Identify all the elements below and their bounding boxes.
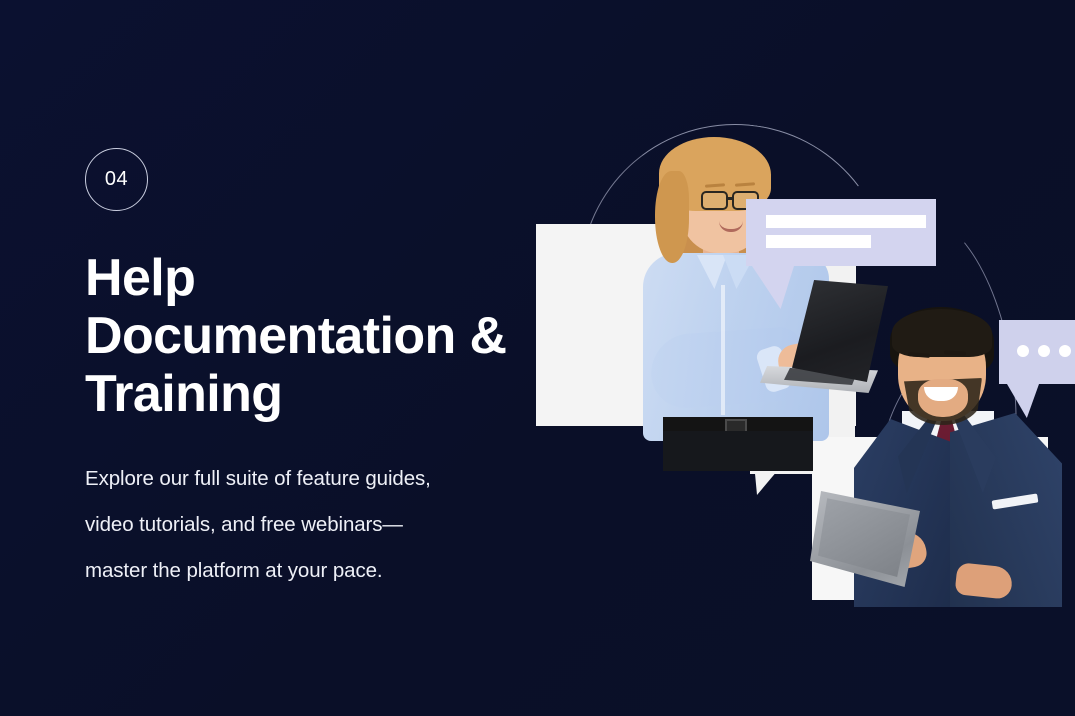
- step-number-label: 04: [105, 168, 128, 191]
- slide-canvas: 04 Help Documentation & Training Explore…: [0, 0, 1075, 716]
- body-copy: Explore our full suite of feature guides…: [85, 456, 555, 594]
- step-number-badge: 04: [85, 148, 148, 211]
- woman-hair-side: [655, 171, 689, 263]
- message-bubble-lines: [746, 199, 936, 266]
- glasses-icon: [701, 191, 728, 210]
- message-line-1: [766, 215, 926, 228]
- collage-graphic: [505, 0, 1075, 716]
- body-line-2: video tutorials, and free webinars—: [85, 502, 555, 548]
- man-hair-front: [892, 309, 992, 357]
- text-column: 04 Help Documentation & Training Explore…: [85, 148, 555, 594]
- body-line-1: Explore our full suite of feature guides…: [85, 456, 555, 502]
- woman-shirt-placket: [721, 285, 725, 415]
- woman-trousers: [663, 431, 813, 471]
- glasses-bridge: [728, 197, 734, 200]
- message-line-2: [766, 235, 871, 248]
- page-title: Help Documentation & Training: [85, 249, 525, 424]
- body-line-3: master the platform at your pace.: [85, 548, 555, 594]
